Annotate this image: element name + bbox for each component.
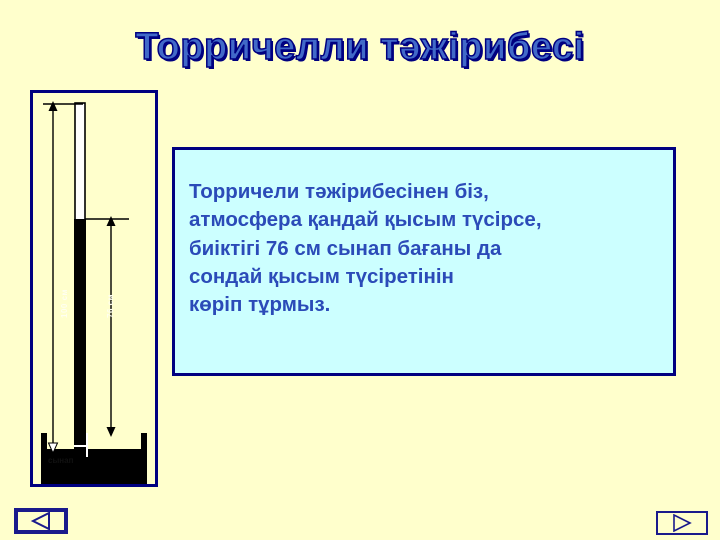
vacuum-section-icon xyxy=(75,103,85,221)
arrowhead-up-100cm xyxy=(49,101,58,111)
body-text: Торричели тәжірибесінен біз, атмосфера қ… xyxy=(189,178,542,319)
torricelli-diagram-panel xyxy=(30,90,158,487)
barometer-illustration xyxy=(33,93,155,484)
label-liquid-mercury: сынап xyxy=(48,456,73,465)
triangle-left-icon xyxy=(18,512,64,530)
page-title: Торричелли тәжірибесі xyxy=(0,26,720,69)
triangle-right-icon xyxy=(658,513,706,533)
next-slide-button[interactable] xyxy=(656,511,708,535)
previous-slide-button[interactable] xyxy=(14,508,68,534)
label-total-height: 100 см xyxy=(60,289,69,318)
height-arrow-76cm xyxy=(85,219,129,433)
arrowhead-up-76cm xyxy=(107,216,116,226)
mercury-column-icon xyxy=(74,219,86,452)
label-mercury-height: 76 см xyxy=(106,294,115,318)
body-text-box: Торричели тәжірибесінен біз, атмосфера қ… xyxy=(172,147,676,376)
